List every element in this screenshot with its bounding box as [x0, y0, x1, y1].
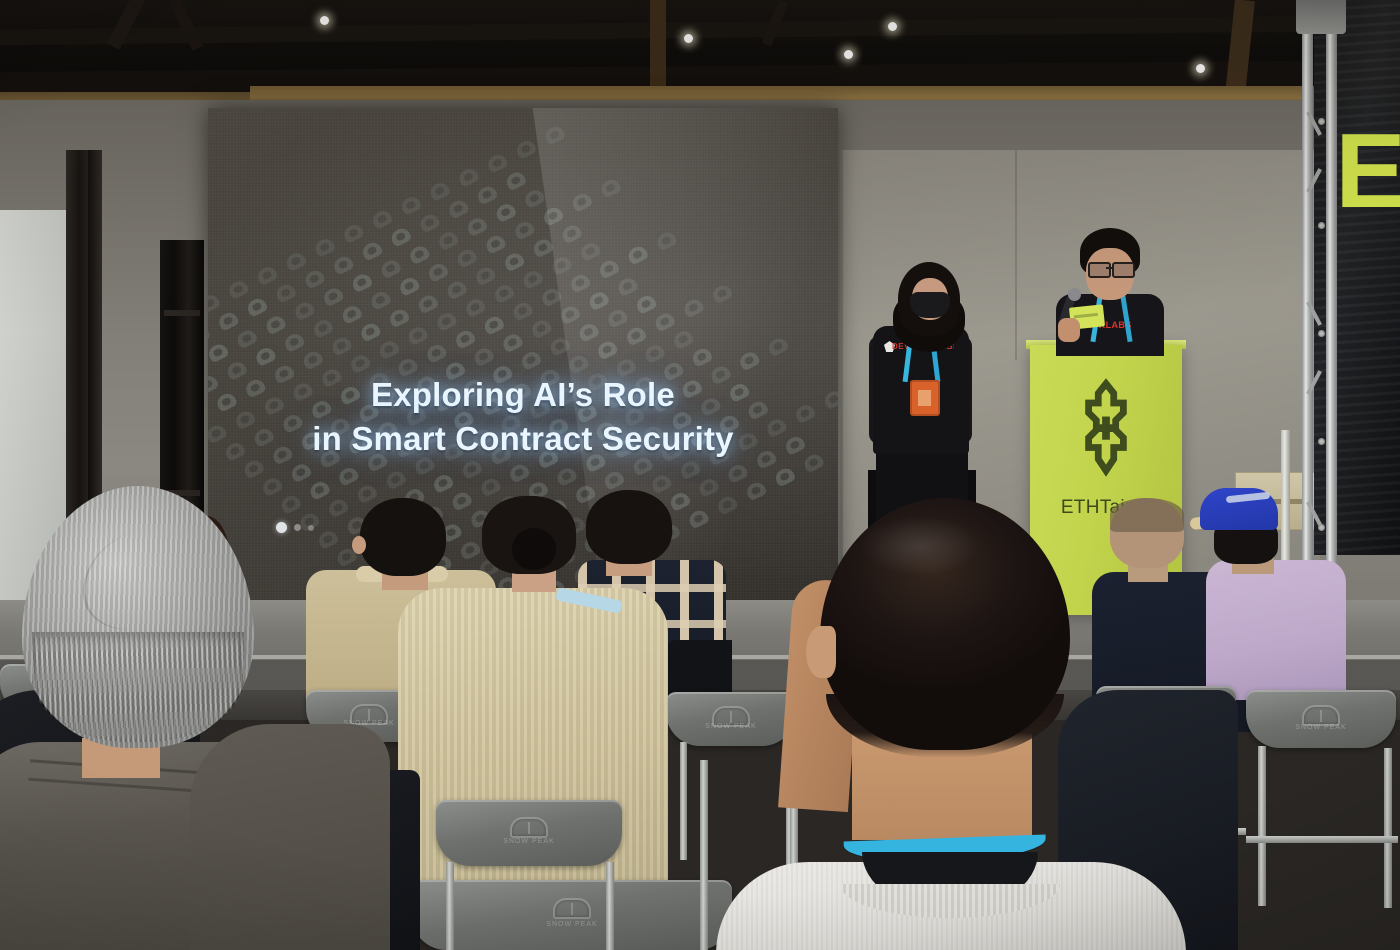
- badge: [910, 380, 940, 416]
- truss-clamp: [1296, 0, 1346, 34]
- eyeglasses-icon: [1088, 262, 1111, 278]
- face-mask: [910, 292, 950, 318]
- slide-title: Exploring AI’s Role in Smart Contract Se…: [208, 373, 838, 461]
- chair-emblem-text: SNOW PEAK: [705, 723, 756, 730]
- chair-emblem-text: SNOW PEAK: [546, 921, 597, 928]
- spotlight-icon: [888, 22, 897, 31]
- wall-seam: [1015, 150, 1017, 360]
- spotlight-icon: [320, 16, 329, 25]
- pagination-dot: [294, 524, 301, 531]
- ethereum-pixel-diamond-logo: [1077, 377, 1135, 487]
- chair-leg: [446, 862, 454, 950]
- slide-title-line2: in Smart Contract Security: [208, 417, 838, 461]
- chair: SNOW PEAK: [666, 692, 796, 746]
- chair-emblem: [553, 898, 591, 919]
- chair-leg: [680, 742, 687, 860]
- microphone-head: [1068, 288, 1081, 301]
- stage-truss-right: [1300, 0, 1342, 640]
- chair-leg: [1384, 748, 1392, 908]
- spotlight-icon: [844, 50, 853, 59]
- hair-bun: [512, 528, 556, 570]
- pagination-dot: [308, 525, 314, 531]
- banner-letter: E: [1335, 128, 1400, 215]
- chair-emblem: [510, 817, 548, 838]
- chair: SNOW PEAK: [436, 800, 622, 866]
- chair-emblem-text: SNOW PEAK: [1295, 724, 1346, 731]
- chair: SNOW PEAK: [1246, 690, 1396, 748]
- wall-seam: [840, 150, 843, 620]
- chair-leg: [1258, 746, 1266, 906]
- chair-leg: [700, 760, 708, 950]
- chair-rail: [1246, 836, 1398, 843]
- chair-leg: [606, 862, 614, 950]
- slide-title-line1: Exploring AI’s Role: [208, 373, 838, 417]
- spotlight-icon: [1196, 64, 1205, 73]
- eyeglasses-icon: [1112, 262, 1135, 278]
- knit-beanie-hat: [22, 486, 254, 748]
- chair: SNOW PEAK: [412, 880, 732, 950]
- ceiling-beam: [0, 15, 1400, 46]
- conference-photo-scene: E Exploring AI’s Role in Smart Contract …: [0, 0, 1400, 950]
- chair-emblem-text: SNOW PEAK: [503, 838, 554, 845]
- spotlight-icon: [684, 34, 693, 43]
